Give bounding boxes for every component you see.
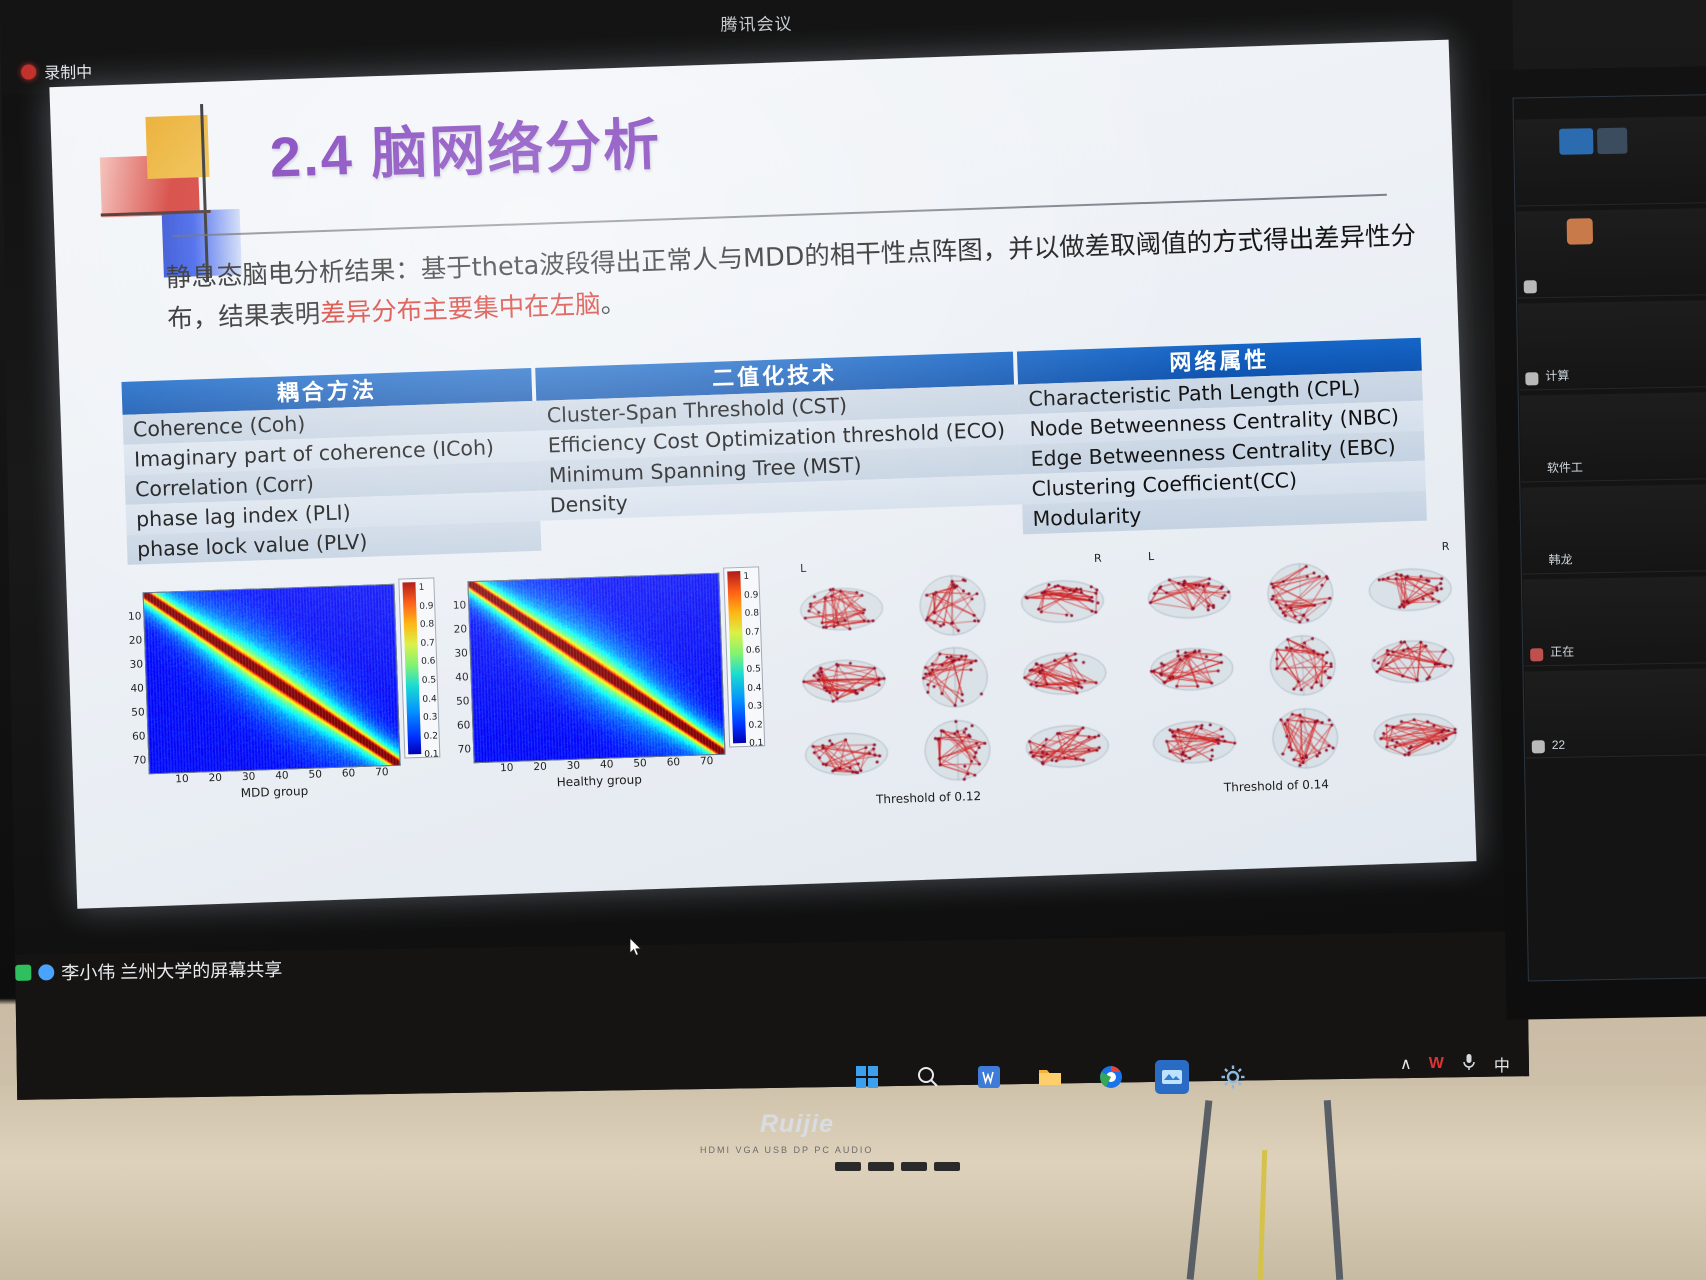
hemisphere-label-right-1: R: [1094, 552, 1102, 565]
axis-tick: 10: [175, 773, 189, 785]
colorbar-tick: 1: [743, 572, 749, 582]
mic-muted-icon: [1525, 372, 1538, 385]
axis-tick: 70: [700, 755, 714, 767]
participant-tile[interactable]: [1515, 116, 1706, 206]
brain-view-sagittal-left: [786, 573, 897, 647]
brain-view-sagittal-right: [1008, 565, 1119, 639]
threshold-caption-012: Threshold of 0.12: [876, 789, 981, 807]
colorbar-tick: 0.1: [749, 739, 764, 749]
brain-view-axial: [900, 641, 1011, 715]
tray-chevron-icon[interactable]: ∧: [1400, 1054, 1412, 1074]
table-column-binarization: 二值化技术 Cluster-Span Threshold (CST) Effic…: [535, 351, 1023, 550]
colorbar-tick: 0.1: [424, 750, 439, 760]
heatmap-mdd-plot: [143, 584, 401, 774]
heatmap-mdd-colorbar: 10.90.80.70.60.50.40.30.20.1: [398, 577, 440, 758]
colorbar-tick: 0.5: [746, 664, 761, 674]
room-photo: 腾讯会议 录制中 2.4 脑网络分析 静息态脑电分析结果：基于theta波段得出…: [0, 0, 1706, 1280]
wall-lower: [0, 1085, 1706, 1280]
tray-ime-label[interactable]: 中: [1494, 1052, 1510, 1076]
mic-muted-icon: [1532, 740, 1545, 753]
brain-view-axial: [902, 714, 1013, 788]
participant-tile[interactable]: 计算: [1518, 300, 1706, 390]
start-button[interactable]: [850, 1060, 884, 1094]
axis-tick: 20: [533, 761, 547, 773]
axis-tick: 30: [567, 760, 581, 772]
colorbar-tick: 0.4: [747, 683, 762, 693]
brain-network-panel: L R L R Threshold of 0.12 Threshold of 0…: [776, 539, 1474, 812]
heatmap-healthy-colorbar: 10.90.80.70.60.50.40.30.20.1: [723, 566, 765, 747]
participant-tile[interactable]: 韩龙: [1521, 484, 1706, 574]
colorbar-tick: 0.7: [420, 638, 435, 648]
brain-grid-threshold-014: [1134, 553, 1471, 779]
avatar: [1567, 218, 1593, 244]
colorbar-tick: 0.8: [745, 609, 760, 619]
hemisphere-label-left-2: L: [1148, 550, 1155, 563]
axis-tick: 50: [131, 706, 145, 718]
axis-tick: 60: [457, 719, 471, 731]
monitor-brand: Ruijie: [760, 1110, 834, 1139]
colorbar-tick: 1: [418, 583, 424, 593]
axis-tick: 40: [455, 671, 469, 683]
browser-button[interactable]: [1094, 1060, 1128, 1094]
brain-view-sagittal-right: [1013, 710, 1124, 784]
colorbar-tick: 0.3: [748, 702, 763, 712]
participant-name: 正在: [1550, 643, 1574, 660]
colorbar-tick: 0.9: [744, 590, 759, 600]
tray-microphone-icon[interactable]: [1461, 1053, 1477, 1076]
participant-tile[interactable]: 22: [1525, 668, 1706, 758]
brain-view-axial: [1250, 702, 1361, 776]
methods-table: 耦合方法 Coherence (Coh) Imaginary part of c…: [121, 338, 1426, 565]
participant-name: 软件工: [1547, 458, 1583, 476]
brain-view-sagittal-left: [1134, 561, 1245, 635]
axis-tick: 40: [130, 682, 144, 694]
shared-slide: 2.4 脑网络分析 静息态脑电分析结果：基于theta波段得出正常人与MDD的相…: [49, 40, 1476, 909]
share-status-bar: 李小伟 兰州大学的屏幕共享: [15, 956, 282, 986]
brain-view-sagittal-left: [1137, 633, 1248, 707]
tray-wps-icon[interactable]: W: [1429, 1055, 1444, 1073]
participant-name: 韩龙: [1548, 551, 1572, 568]
axis-tick: 60: [667, 756, 681, 768]
axis-tick: 20: [208, 772, 222, 784]
axis-tick: 60: [342, 767, 356, 779]
recording-label: 录制中: [44, 59, 92, 84]
monitor-screen: 腾讯会议 录制中 2.4 脑网络分析 静息态脑电分析结果：基于theta波段得出…: [0, 0, 1529, 1100]
axis-tick: 30: [129, 658, 143, 670]
avatar: [1597, 128, 1627, 155]
recording-indicator: 录制中: [21, 59, 92, 84]
axis-tick: 70: [133, 754, 147, 766]
axis-tick: 10: [128, 610, 142, 622]
axis-tick: 70: [375, 766, 389, 778]
recording-dot-icon: [21, 64, 36, 79]
participant-name: 计算: [1545, 367, 1569, 384]
avatar: [1559, 128, 1593, 155]
file-explorer-button[interactable]: [1033, 1060, 1067, 1094]
app-meeting-button[interactable]: [1155, 1060, 1189, 1094]
brain-view-sagittal-right: [1358, 626, 1469, 700]
person-icon: [38, 964, 54, 980]
axis-tick: 50: [633, 757, 647, 769]
brain-view-sagittal-left: [791, 717, 902, 791]
brain-grid-threshold-012: [786, 565, 1123, 791]
participant-name: 22: [1552, 738, 1566, 752]
axis-tick: 40: [600, 758, 614, 770]
system-tray: ∧ W 中: [1400, 1052, 1510, 1076]
participant-tile[interactable]: 正在: [1523, 576, 1706, 666]
table-column-network: 网络属性 Characteristic Path Length (CPL) No…: [1017, 338, 1427, 535]
colorbar-tick: 0.8: [420, 620, 435, 630]
brain-view-axial: [1247, 629, 1358, 703]
app-wps-button[interactable]: [972, 1060, 1006, 1094]
axis-tick: 40: [275, 769, 289, 781]
axis-tick: 20: [129, 634, 143, 646]
participant-tile[interactable]: 软件工: [1520, 392, 1706, 482]
hemisphere-label-left-1: L: [800, 562, 807, 575]
brain-view-sagittal-right: [1355, 553, 1466, 627]
slide-title: 2.4 脑网络分析: [268, 99, 662, 193]
threshold-caption-014: Threshold of 0.14: [1224, 777, 1329, 795]
axis-tick: 50: [308, 768, 322, 780]
slide-body-text: 静息态脑电分析结果：基于theta波段得出正常人与MDD的相干性点阵图，并以做差…: [165, 216, 1422, 341]
heatmap-healthy-plot: [467, 573, 725, 763]
share-status-label: 李小伟 兰州大学的屏幕共享: [61, 956, 282, 985]
mic-muted-icon: [1524, 280, 1537, 293]
brain-view-axial: [1245, 557, 1356, 631]
brain-view-sagittal-left: [1139, 705, 1250, 779]
colorbar-tick: 0.4: [422, 694, 437, 704]
settings-button[interactable]: [1216, 1060, 1250, 1094]
windows-taskbar: [700, 1048, 1400, 1106]
table-column-coupling: 耦合方法 Coherence (Coh) Imaginary part of c…: [121, 368, 541, 565]
brain-view-sagittal-left: [789, 645, 900, 719]
body-suffix: 。: [600, 289, 627, 320]
participants-sidebar: 计算 软件工 韩龙 正在 22: [1490, 66, 1706, 1020]
axis-tick: 10: [453, 599, 467, 611]
mouse-cursor: [630, 938, 642, 957]
brain-view-axial: [897, 569, 1008, 643]
hemisphere-label-right-2: R: [1442, 540, 1450, 553]
colorbar-tick: 0.9: [419, 601, 434, 611]
axis-tick: 60: [132, 730, 146, 742]
colorbar-tick: 0.2: [748, 720, 763, 730]
axis-tick: 20: [453, 623, 467, 635]
colorbar-tick: 0.6: [746, 646, 761, 656]
monitor-ports: [700, 1150, 1080, 1178]
axis-tick: 10: [500, 762, 514, 774]
brain-view-sagittal-right: [1360, 698, 1471, 772]
search-icon[interactable]: [911, 1060, 945, 1094]
figure-panel: 10203040506070 10203040506070 MDD group …: [86, 540, 1464, 856]
colorbar-tick: 0.5: [422, 675, 437, 685]
mic-muted-icon: [1530, 648, 1543, 661]
axis-tick: 50: [456, 695, 470, 707]
body-highlight: 差异分布主要集中在左脑: [320, 290, 601, 330]
axis-tick: 30: [242, 771, 256, 783]
axis-tick: 70: [458, 743, 472, 755]
colorbar-tick: 0.6: [421, 657, 436, 667]
colorbar-tick: 0.3: [423, 713, 438, 723]
axis-tick: 30: [454, 647, 468, 659]
colorbar-tick: 0.7: [745, 627, 760, 637]
colorbar-tick: 0.2: [424, 731, 439, 741]
microphone-icon: [15, 965, 31, 981]
brain-view-sagittal-right: [1010, 637, 1121, 711]
participant-tile[interactable]: [1516, 208, 1706, 298]
